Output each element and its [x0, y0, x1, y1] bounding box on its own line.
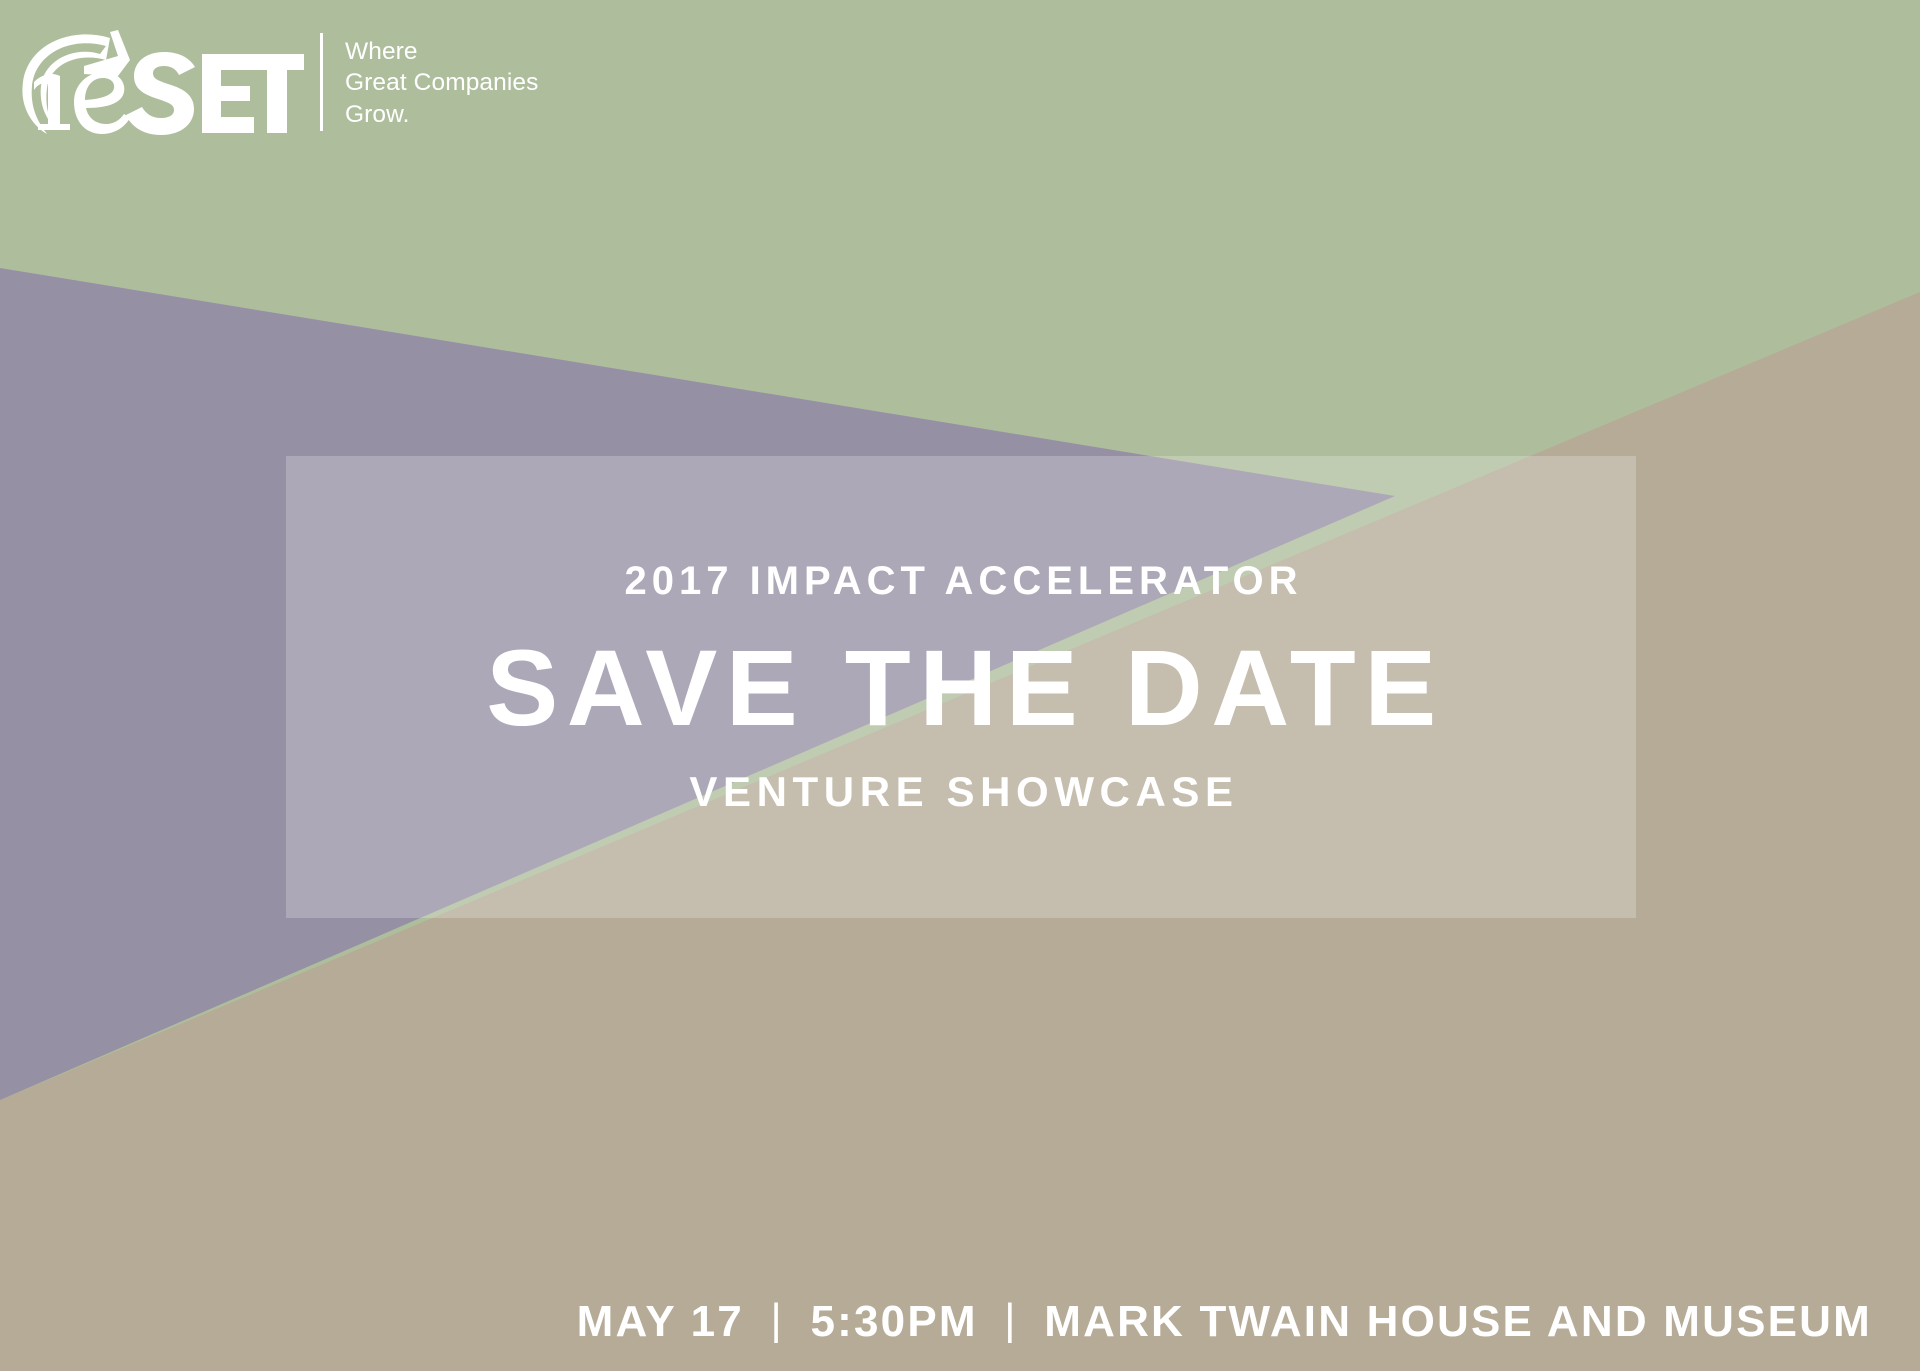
logo-divider-icon: [320, 33, 323, 131]
hero-text-stack: 2017 IMPACT ACCELERATOR SAVE THE DATE VE…: [286, 456, 1636, 918]
event-venue: MARK TWAIN HOUSE AND MUSEUM: [1044, 1297, 1872, 1346]
save-the-date-poster: Where Great Companies Grow. 2017 IMPACT …: [0, 0, 1920, 1371]
hero-subtitle: VENTURE SHOWCASE: [683, 771, 1238, 813]
event-details-line: MAY 17 | 5:30PM | MARK TWAIN HOUSE AND M…: [0, 1297, 1872, 1347]
event-time: 5:30PM: [810, 1297, 977, 1346]
detail-separator-1: |: [758, 1295, 796, 1344]
event-date: MAY 17: [577, 1297, 744, 1346]
logo-tagline: Where Great Companies Grow.: [345, 36, 539, 130]
hero-title: SAVE THE DATE: [477, 635, 1445, 741]
detail-separator-2: |: [992, 1295, 1030, 1344]
reset-letter-t-icon: [250, 24, 304, 140]
reset-wordmark-icon: [14, 24, 254, 140]
hero-kicker: 2017 IMPACT ACCELERATOR: [619, 561, 1302, 601]
reset-logo-lockup[interactable]: Where Great Companies Grow.: [14, 24, 539, 140]
